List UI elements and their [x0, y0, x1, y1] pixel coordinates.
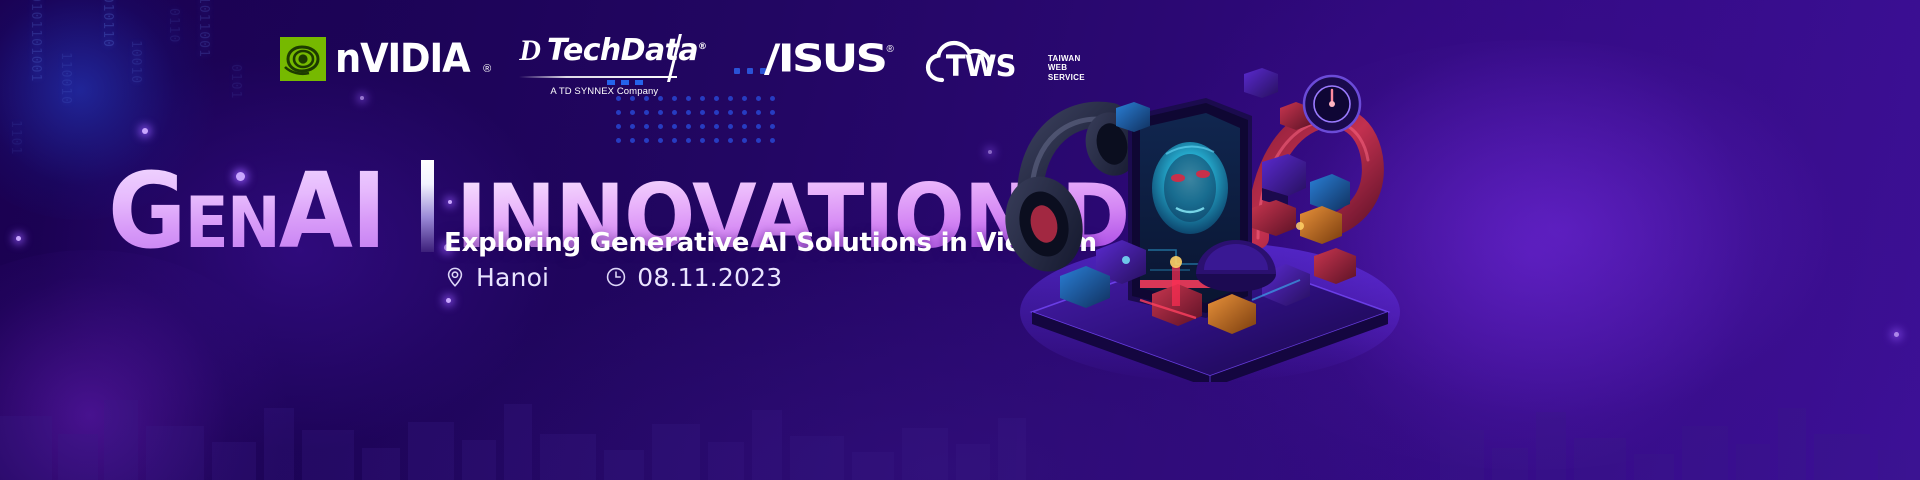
- meta-date: 08.11.2023: [605, 263, 782, 292]
- techdata-tagline: A TD SYNNEX Company: [519, 86, 689, 97]
- techdata-wordmark: TechData®: [547, 36, 706, 66]
- asus-registered: ®: [886, 44, 893, 55]
- glow-bottom-left: [0, 250, 300, 480]
- meta-location: Hanoi: [444, 263, 549, 292]
- nvidia-trademark: ®: [483, 63, 491, 75]
- genai-ai: AI: [279, 150, 385, 272]
- event-meta-row: Hanoi 08.11.2023: [444, 260, 782, 294]
- asus-wordmark: /ISUS: [764, 40, 885, 79]
- sparkle-dot: [16, 236, 21, 241]
- genai-g: G: [108, 150, 185, 272]
- city-skyline-silhouette: [0, 330, 1920, 480]
- headline-divider-bar: [421, 160, 434, 252]
- sparkle-dot: [142, 128, 148, 134]
- event-subtitle: Exploring Generative AI Solutions in Vie…: [444, 228, 1097, 258]
- techdata-d-mark: D: [519, 36, 541, 66]
- techdata-registered: ®: [698, 42, 706, 52]
- nvidia-wordmark: nVIDIA ®: [335, 39, 491, 79]
- genai-innovation-day-banner: 0101101001 110010 0010110 10010 0110 101…: [0, 0, 1920, 480]
- ai-isometric-illustration: [1000, 12, 1420, 382]
- asus-blue-dots: [734, 68, 766, 74]
- brand-genai: GENAI: [108, 167, 385, 256]
- clock-icon: [605, 266, 627, 288]
- sponsor-logo-strip: nVIDIA ® D TechData® A TD SYNNEX Company…: [280, 36, 1085, 100]
- logo-asus[interactable]: /ISUS ®: [764, 36, 893, 82]
- techdata-blue-ticks: [607, 80, 643, 85]
- nvidia-eye-icon: [280, 37, 326, 81]
- techdata-underline: [519, 76, 677, 78]
- genai-en: EN: [185, 182, 279, 264]
- sparkle-dot: [446, 298, 451, 303]
- location-label: Hanoi: [476, 263, 549, 292]
- date-label: 08.11.2023: [637, 263, 782, 292]
- logo-techdata[interactable]: D TechData® A TD SYNNEX Company: [519, 36, 706, 98]
- gauge-dial: [1304, 76, 1360, 132]
- map-pin-icon: [444, 266, 466, 288]
- sparkle-dot: [1894, 332, 1899, 337]
- logo-nvidia[interactable]: nVIDIA ®: [280, 36, 491, 82]
- dot-matrix-pattern: [612, 92, 780, 148]
- nvidia-wordmark-text: nVIDIA: [335, 39, 469, 79]
